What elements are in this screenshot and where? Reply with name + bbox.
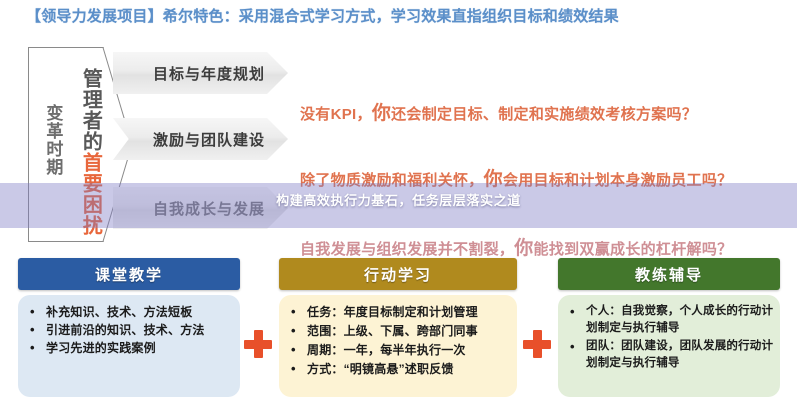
arrow-label-0: 目标与年度规划: [113, 63, 265, 84]
list-item: 学习先进的实践案例: [26, 339, 234, 357]
panel-title-0: 课堂教学: [95, 264, 163, 285]
question-rest-0: 还会制定目标、制定和实施绩效考核方案吗？: [391, 106, 697, 123]
list-item: 周期：一年，每半年执行一次: [287, 341, 511, 360]
question-prefix-0: 没有KPI，: [300, 106, 372, 123]
panel-list-0: 补充知识、技术、方法短板 引进前沿的知识、技术、方法 学习先进的实践案例: [26, 303, 234, 358]
list-item: 团队：团队建设，团队发展的行动计划制定与执行辅导: [566, 338, 774, 373]
question-line-2: 自我发展与组织发展并不割裂，你能找到双赢成长的杠杆解吗？: [300, 233, 732, 260]
list-item: 任务：年度目标制定和计划管理: [287, 303, 511, 322]
pentagon-main-text: 管理者的: [79, 68, 101, 152]
panel-body-2: 个人：自我觉察，个人成长的行动计划制定与执行辅导 团队：团队建设，团队发展的行动…: [558, 295, 780, 397]
list-item: 方式：“明镜高悬”述职反馈: [287, 360, 511, 379]
plus-icon-right: [523, 330, 551, 358]
overlay-banner: 构建高效执行力基石，任务层层落实之道: [0, 183, 797, 228]
panel-title-2: 教练辅导: [635, 264, 703, 285]
arrow-label-1: 激励与团队建设: [113, 129, 265, 150]
list-item: 引进前沿的知识、技术、方法: [26, 321, 234, 339]
panel-header-0: 课堂教学: [18, 258, 240, 290]
pentagon-sub-label: 变革时期: [44, 104, 61, 176]
panel-list-2: 个人：自我觉察，个人成长的行动计划制定与执行辅导 团队：团队建设，团队发展的行动…: [566, 303, 774, 372]
panel-coaching: 教练辅导 个人：自我觉察，个人成长的行动计划制定与执行辅导 团队：团队建设，团队…: [558, 258, 780, 398]
question-prefix-2: 自我发展与组织发展并不割裂，: [300, 241, 514, 258]
panel-title-1: 行动学习: [364, 264, 432, 285]
question-line-0: 没有KPI，你还会制定目标、制定和实施绩效考核方案吗？: [300, 98, 697, 125]
question-emphasis-2: 你: [514, 238, 533, 259]
panel-list-1: 任务：年度目标制定和计划管理 范围：上级、下属、跨部门同事 周期：一年，每半年执…: [287, 303, 511, 379]
list-item: 个人：自我觉察，个人成长的行动计划制定与执行辅导: [566, 303, 774, 338]
bottom-panels: 课堂教学 补充知识、技术、方法短板 引进前沿的知识、技术、方法 学习先进的实践案…: [0, 258, 797, 400]
arrow-banner-goal: 目标与年度规划: [113, 52, 288, 94]
question-emphasis-0: 你: [372, 103, 391, 124]
list-item: 补充知识、技术、方法短板: [26, 303, 234, 321]
list-item: 范围：上级、下属、跨部门同事: [287, 322, 511, 341]
panel-classroom: 课堂教学 补充知识、技术、方法短板 引进前沿的知识、技术、方法 学习先进的实践案…: [18, 258, 240, 398]
slide-canvas: 【领导力发展项目】希尔特色：采用混合式学习方式，学习效果直指组织目标和绩效结果 …: [0, 0, 797, 400]
question-rest-2: 能找到双赢成长的杠杆解吗？: [534, 241, 733, 258]
slide-title-bar: 【领导力发展项目】希尔特色：采用混合式学习方式，学习效果直指组织目标和绩效结果: [0, 0, 797, 30]
panel-header-2: 教练辅导: [558, 258, 780, 290]
panel-body-0: 补充知识、技术、方法短板 引进前沿的知识、技术、方法 学习先进的实践案例: [18, 295, 240, 397]
panel-header-1: 行动学习: [279, 258, 517, 290]
overlay-banner-text: 构建高效执行力基石，任务层层落实之道: [276, 190, 521, 209]
arrow-banner-motivation: 激励与团队建设: [113, 118, 288, 160]
panel-action-learning: 行动学习 任务：年度目标制定和计划管理 范围：上级、下属、跨部门同事 周期：一年…: [279, 258, 517, 398]
page-title: 【领导力发展项目】希尔特色：采用混合式学习方式，学习效果直指组织目标和绩效结果: [0, 5, 619, 26]
panel-body-1: 任务：年度目标制定和计划管理 范围：上级、下属、跨部门同事 周期：一年，每半年执…: [279, 295, 517, 397]
plus-icon-left: [244, 330, 272, 358]
